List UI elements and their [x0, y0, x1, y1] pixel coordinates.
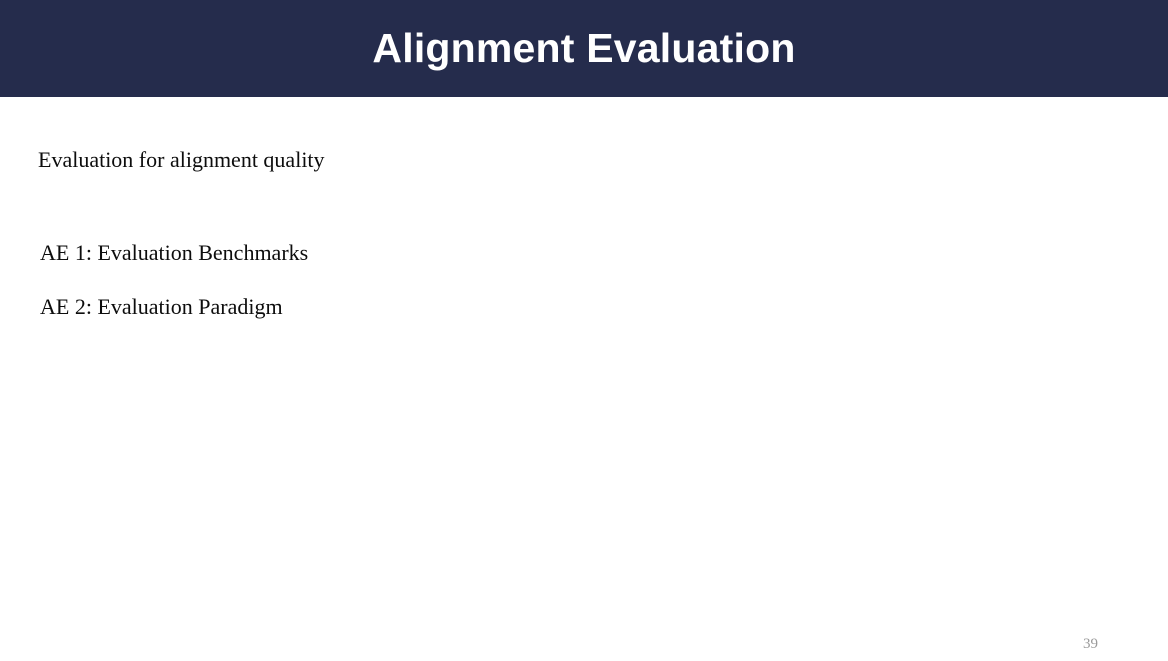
- slide-body: Evaluation for alignment quality AE 1: E…: [0, 97, 1168, 661]
- list-item-ae2: AE 2: Evaluation Paradigm: [40, 294, 283, 320]
- slide-title-banner: Alignment Evaluation: [0, 0, 1168, 97]
- intro-text: Evaluation for alignment quality: [38, 147, 325, 173]
- slide: Alignment Evaluation Evaluation for alig…: [0, 0, 1168, 661]
- page-number: 39: [1083, 635, 1098, 653]
- page-title: Alignment Evaluation: [348, 28, 819, 69]
- list-item-ae1: AE 1: Evaluation Benchmarks: [40, 240, 308, 266]
